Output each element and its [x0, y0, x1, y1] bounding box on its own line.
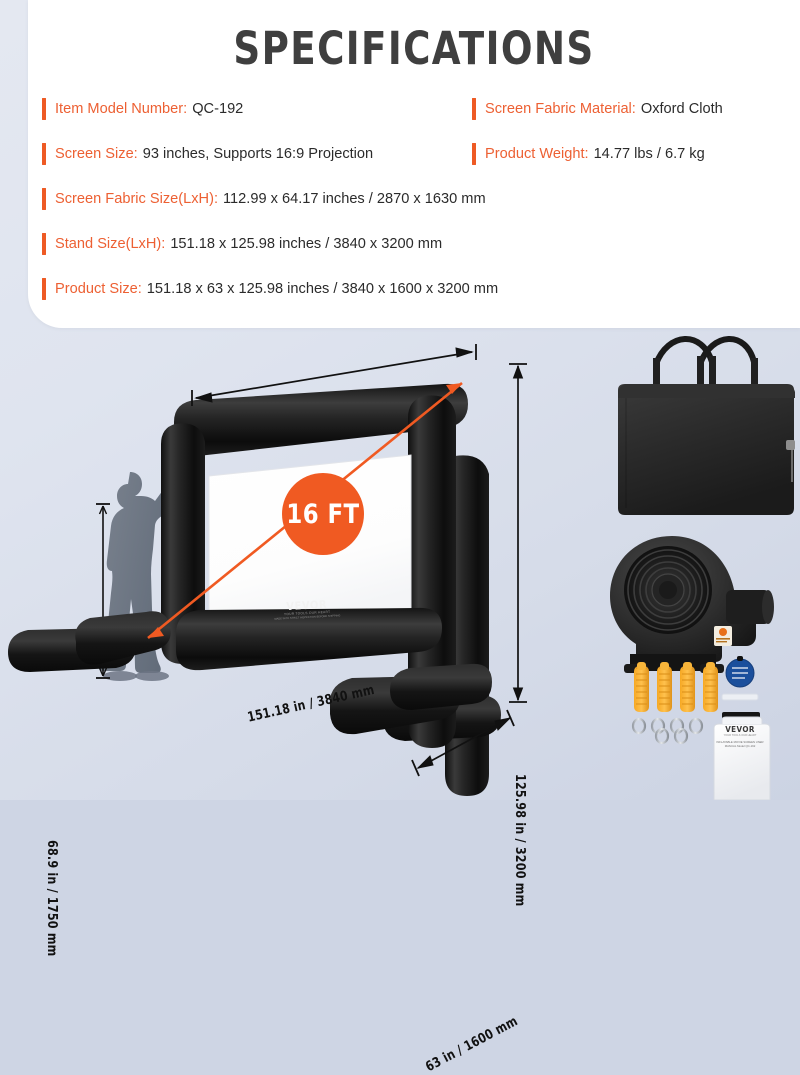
inflatable-screen-frame [8, 384, 501, 796]
screen-size-badge-label: 16 FT [286, 499, 359, 530]
manual-label: VEVOR YOUR TOOLS OUR HEART INFLATABLE MO… [713, 725, 767, 748]
repair-patch [726, 656, 754, 687]
spec-item-screen-fabric-material: Screen Fabric Material: Oxford Cloth [472, 98, 723, 120]
accent-bar-icon [42, 143, 46, 165]
spec-value: 112.99 x 64.17 inches / 2870 x 1630 mm [223, 191, 486, 207]
dimension-label-height: 125.98 in / 3200 mm [512, 774, 528, 906]
page-background: SPECIFICATIONS Item Model Number: QC-192… [0, 0, 800, 800]
spec-value: 151.18 x 63 x 125.98 inches / 3840 x 160… [147, 281, 498, 297]
dimension-label-person-height: 68.9 in / 1750 mm [44, 840, 60, 957]
spec-value: 93 inches, Supports 16:9 Projection [143, 146, 373, 162]
spec-row: Screen Size: 93 inches, Supports 16:9 Pr… [42, 141, 790, 166]
spec-label: Screen Size: [55, 146, 138, 162]
dimension-line-height-product [509, 364, 527, 702]
spec-label: Screen Fabric Size(LxH): [55, 191, 218, 207]
spec-item-screen-size: Screen Size: 93 inches, Supports 16:9 Pr… [42, 143, 472, 165]
spec-label: Product Size: [55, 281, 142, 297]
spec-value: 151.18 x 125.98 inches / 3840 x 3200 mm [170, 236, 442, 252]
manual-brand: VEVOR [713, 725, 767, 734]
rope-bundle [703, 662, 718, 712]
spec-value: Oxford Cloth [641, 101, 723, 117]
spec-label: Stand Size(LxH): [55, 236, 165, 252]
spec-item-product-size: Product Size: 151.18 x 63 x 125.98 inche… [42, 276, 790, 301]
accent-bar-icon [42, 188, 46, 210]
dimension-label-depth: 63 in / 1600 mm [423, 1013, 520, 1075]
accent-bar-icon [42, 278, 46, 300]
rope-bundle [657, 662, 672, 712]
ground-stake [633, 719, 645, 784]
product-diagram: 151.18 in / 3840 mm 125.98 in / 3200 mm … [0, 328, 800, 800]
spec-value: 14.77 lbs / 6.7 kg [594, 146, 705, 162]
page-title: SPECIFICATIONS [59, 22, 769, 75]
manual-tagline: YOUR TOOLS OUR HEART [713, 734, 767, 737]
specifications-card: SPECIFICATIONS Item Model Number: QC-192… [28, 0, 800, 328]
tape-strip [722, 694, 758, 700]
rope-bundle [680, 662, 695, 712]
spec-value: QC-192 [192, 101, 243, 117]
spec-label: Item Model Number: [55, 101, 187, 117]
carry-bag-illustration [618, 339, 795, 515]
spec-list: Item Model Number: QC-192 Screen Fabric … [42, 96, 790, 321]
accent-bar-icon [42, 233, 46, 255]
spec-item-screen-fabric-size: Screen Fabric Size(LxH): 112.99 x 64.17 … [42, 186, 790, 211]
accent-bar-icon [472, 143, 476, 165]
ground-stake [690, 719, 702, 784]
manual-title: INFLATABLE MOVIE SCREEN USER MANUAL Mode… [713, 740, 767, 748]
screen-size-badge: 16 FT [282, 473, 364, 555]
blower-illustration [610, 536, 774, 673]
spec-item-stand-size: Stand Size(LxH): 151.18 x 125.98 inches … [42, 231, 790, 256]
accent-bar-icon [42, 98, 46, 120]
spec-item-item-model-number: Item Model Number: QC-192 [42, 98, 472, 120]
spec-label: Screen Fabric Material: [485, 101, 636, 117]
vevor-logo-on-frame: VEVOR YOUR TOOLS OUR HEART MADE WITH STR… [274, 598, 341, 621]
rope-bundle [634, 662, 649, 712]
spec-item-product-weight: Product Weight: 14.77 lbs / 6.7 kg [472, 143, 705, 165]
spec-row: Item Model Number: QC-192 Screen Fabric … [42, 96, 790, 121]
accent-bar-icon [472, 98, 476, 120]
spec-label: Product Weight: [485, 146, 589, 162]
